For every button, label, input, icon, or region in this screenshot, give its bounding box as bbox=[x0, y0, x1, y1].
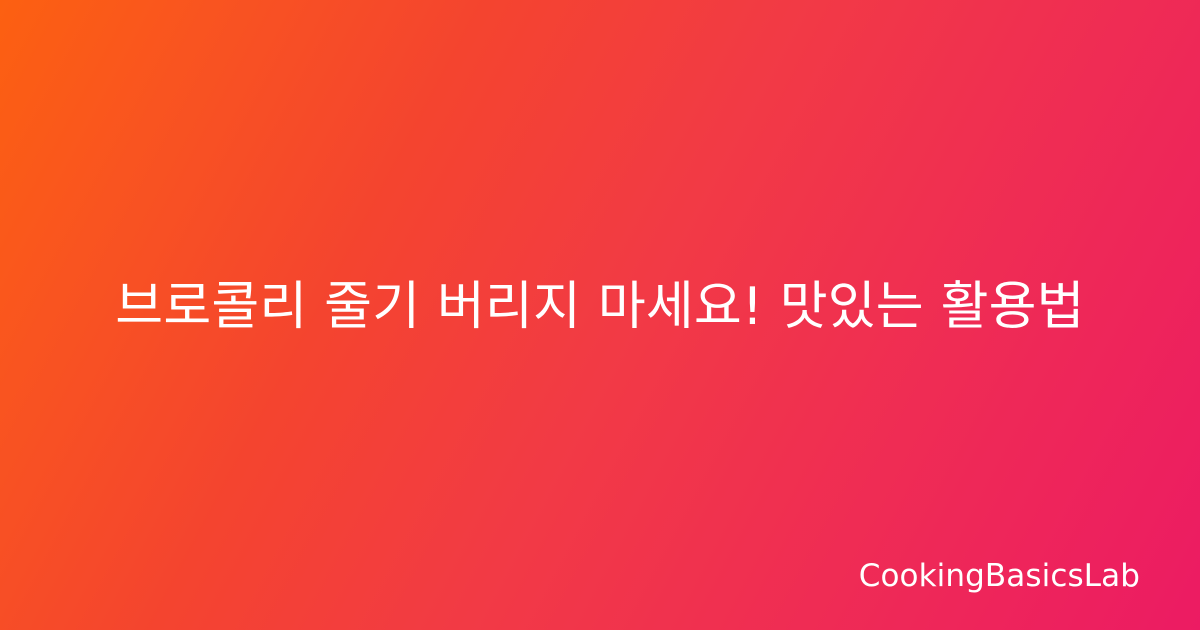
social-share-card: 브로콜리 줄기 버리지 마세요! 맛있는 활용법 CookingBasicsLa… bbox=[0, 0, 1200, 630]
page-title: 브로콜리 줄기 버리지 마세요! 맛있는 활용법 bbox=[72, 268, 1128, 346]
brand-name: CookingBasicsLab bbox=[859, 561, 1140, 592]
title-container: 브로콜리 줄기 버리지 마세요! 맛있는 활용법 bbox=[0, 0, 1200, 630]
